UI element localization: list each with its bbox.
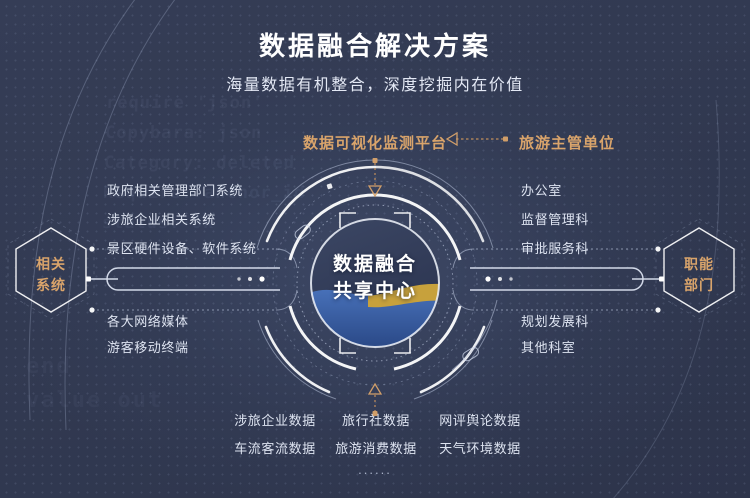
right-item-4[interactable]: 其他科室 <box>521 337 575 356</box>
page-title: 数据融合解决方案 <box>0 26 750 63</box>
bottom-item-r0c1[interactable]: 旅行社数据 <box>330 410 422 429</box>
left-risers <box>276 249 297 310</box>
bottom-ellipsis: ...... <box>0 462 750 477</box>
infographic-canvas: require 'json' Copybara: json Category: … <box>0 0 750 498</box>
label-visualization-platform[interactable]: 数据可视化监测平台 <box>303 132 447 153</box>
left-item-3[interactable]: 各大网络媒体 <box>107 311 189 330</box>
left-item-4[interactable]: 游客移动终端 <box>107 337 189 356</box>
bottom-item-r1c0[interactable]: 车流客流数据 <box>225 438 325 457</box>
right-item-2[interactable]: 审批服务科 <box>521 238 589 257</box>
right-item-0[interactable]: 办公室 <box>521 180 562 199</box>
hub-ring-nub-dots <box>326 183 332 189</box>
left-hexagon-label: 相关 系统 <box>14 254 88 296</box>
background-swoosh-arcs-right <box>612 100 719 498</box>
right-item-1[interactable]: 监督管理科 <box>521 209 589 228</box>
left-item-2[interactable]: 景区硬件设备、软件系统 <box>107 238 257 257</box>
label-tourism-authority[interactable]: 旅游主管单位 <box>519 132 615 153</box>
bottom-item-r0c2[interactable]: 网评舆论数据 <box>430 410 530 429</box>
top-gold-arrow-icon <box>369 158 381 196</box>
bottom-item-r0c0[interactable]: 涉旅企业数据 <box>225 410 325 429</box>
top-labels-connector-arrow-icon <box>447 133 508 145</box>
page-subtitle: 海量数据有机整合，深度挖掘内在价值 <box>0 71 750 95</box>
right-risers <box>453 249 474 310</box>
left-item-1[interactable]: 涉旅企业相关系统 <box>107 209 216 228</box>
bottom-item-r1c1[interactable]: 旅游消费数据 <box>330 438 422 457</box>
hub-label: 数据融合 共享中心 <box>300 251 450 305</box>
right-item-3[interactable]: 规划发展科 <box>521 311 589 330</box>
right-hexagon-label: 职能 部门 <box>662 254 736 296</box>
left-item-0[interactable]: 政府相关管理部门系统 <box>107 180 243 199</box>
bottom-item-r1c2[interactable]: 天气环境数据 <box>430 438 530 457</box>
